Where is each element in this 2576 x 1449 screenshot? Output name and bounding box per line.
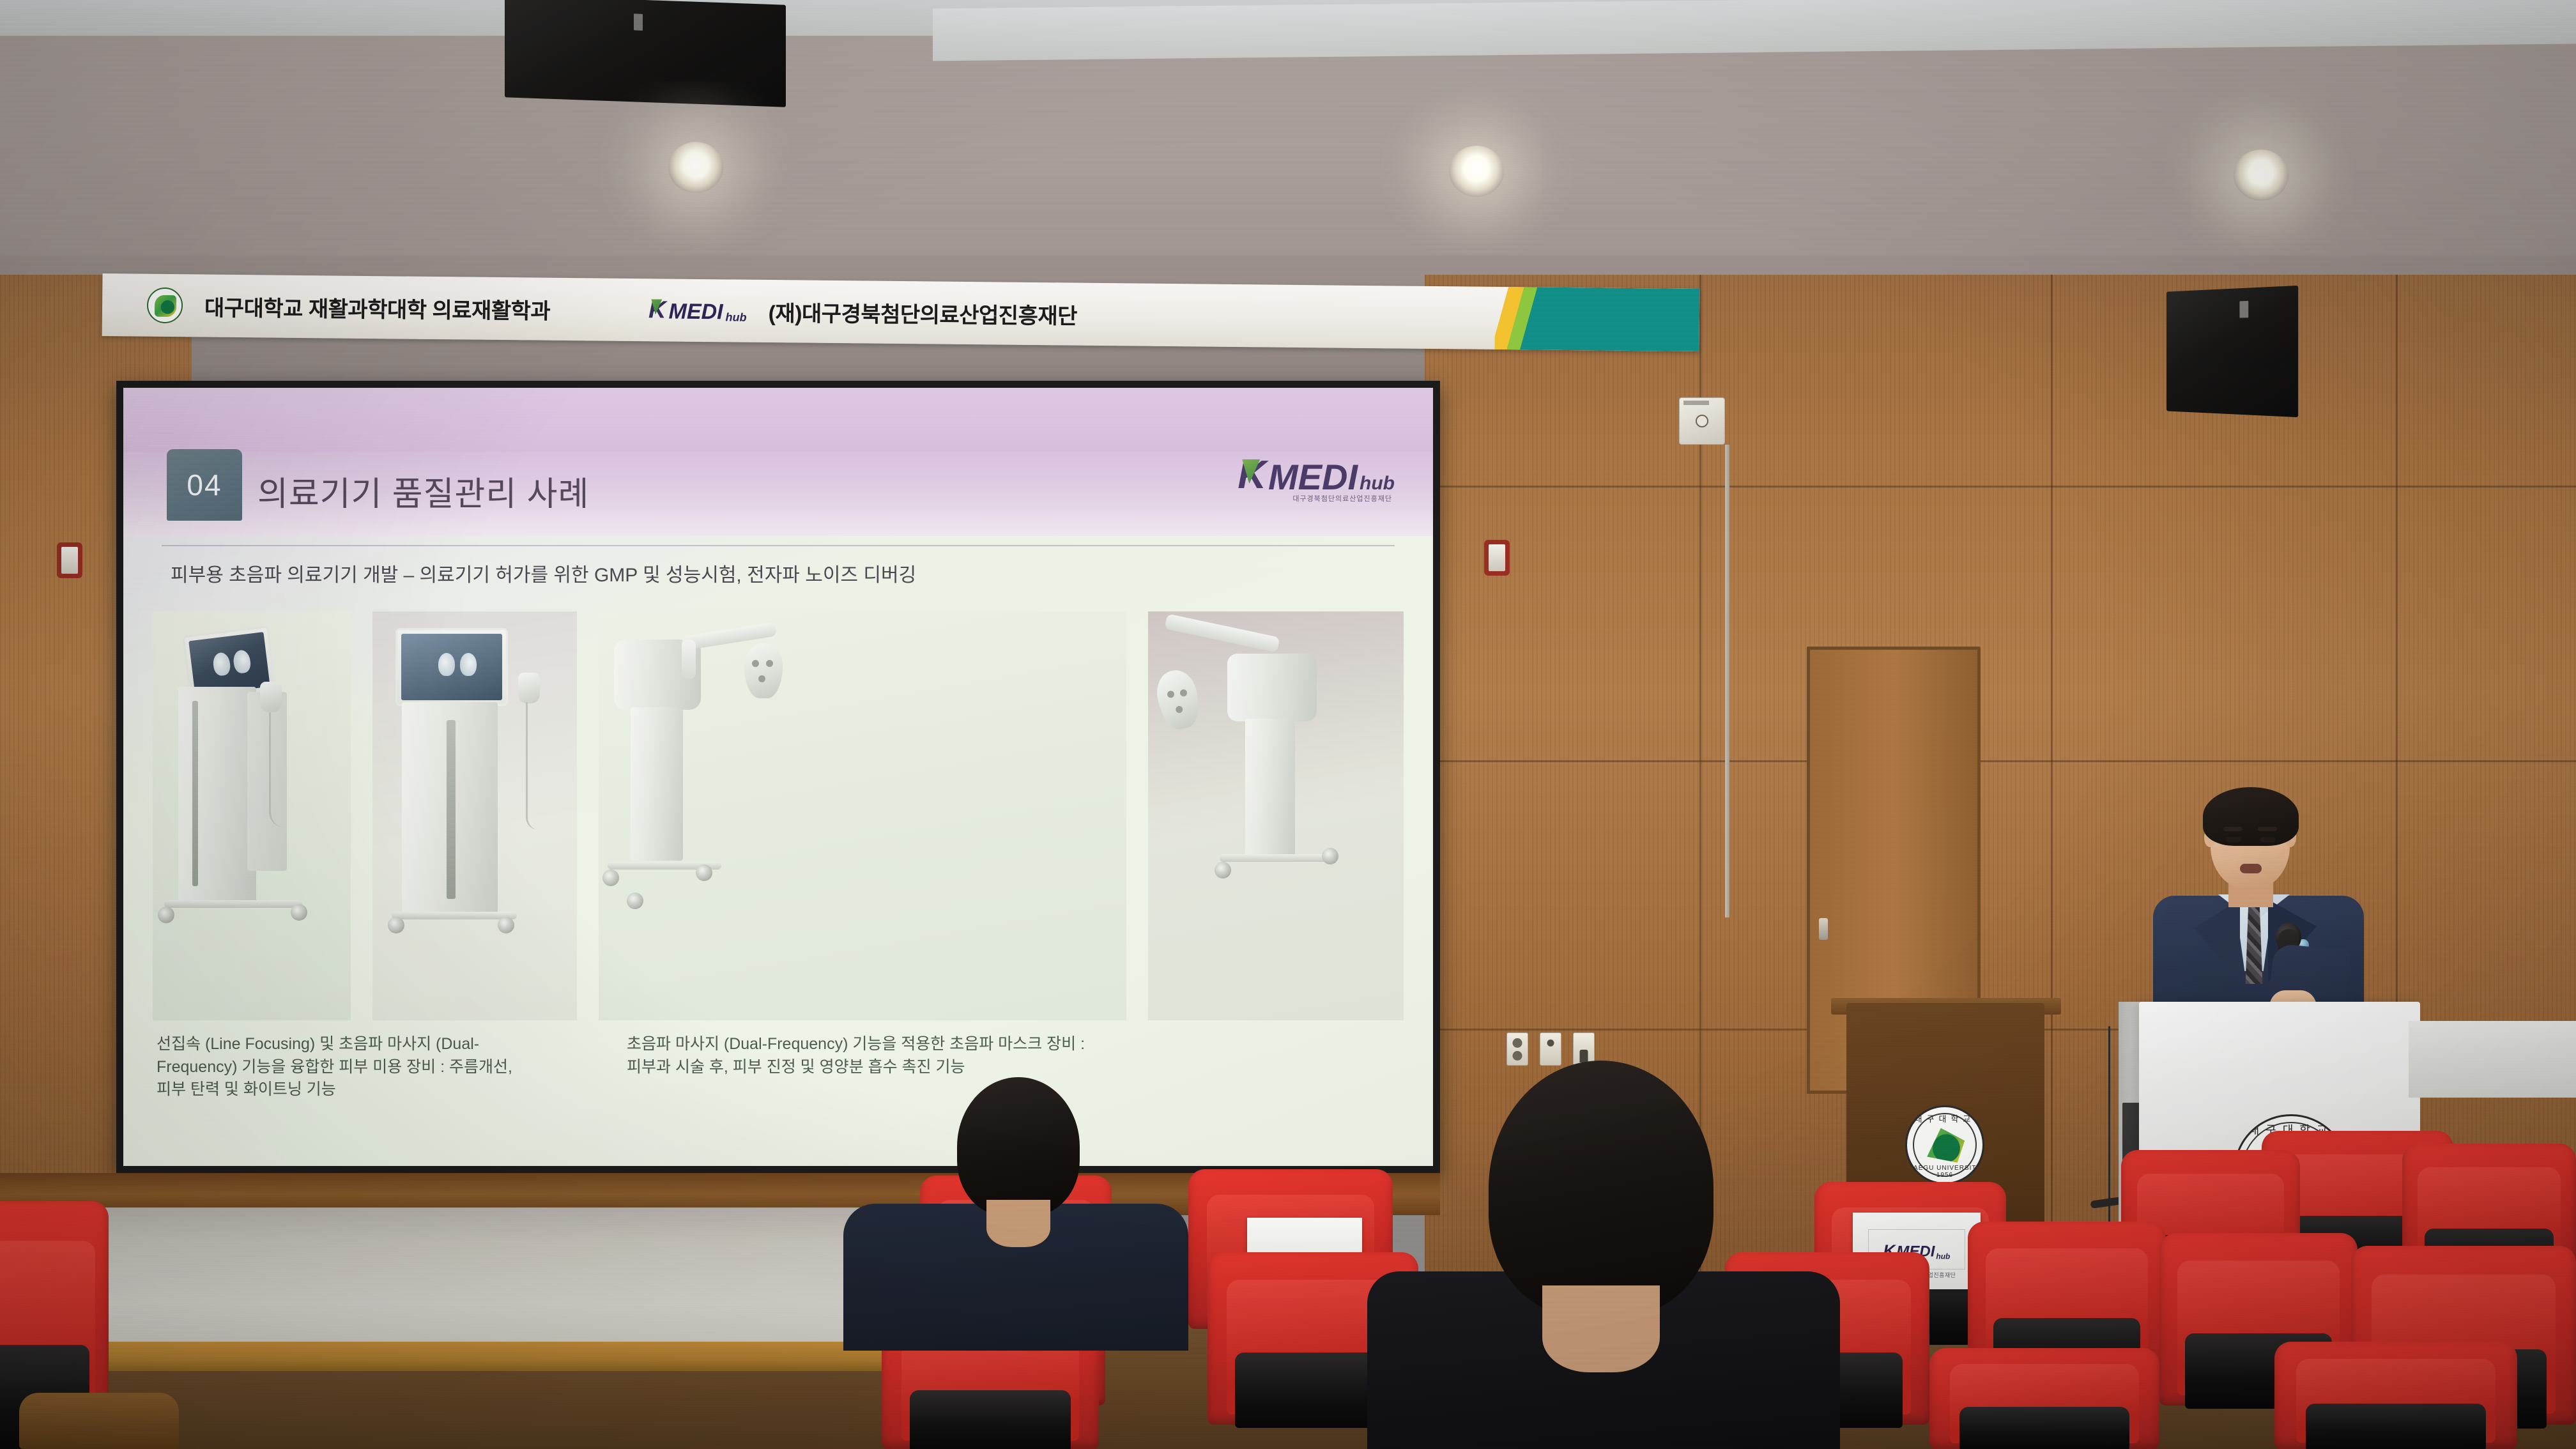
slide-logo-subtext: 대구경북첨단의료산업진흥재단: [1292, 493, 1392, 503]
wall-jack-plate-1: [1540, 1032, 1561, 1066]
banner-left-org: 대구대학교 재활과학대학 의료재활학과: [204, 290, 551, 325]
kmedi-k-letter: K: [648, 298, 666, 322]
control-knob-icon[interactable]: [1696, 415, 1708, 427]
projection-screen-surface: 04 의료기기 품질관리 사례 K MEDI hub 대구경북첨단의료산업진흥재…: [123, 388, 1433, 1166]
slide-subtitle: 피부용 초음파 의료기기 개발 – 의료기기 허가를 위한 GMP 및 성능시험…: [171, 559, 916, 587]
slide-photo-3-ultrasound-mask-cart: [599, 611, 1126, 1020]
attendee-front-left-head: [957, 1077, 1080, 1216]
slide-caption-left: 선집속 (Line Focusing) 및 초음파 마사지 (Dual- Fre…: [157, 1033, 565, 1101]
speaker-badge-icon: [634, 14, 643, 31]
device1-caster-left: [158, 907, 174, 923]
kmedi-hub-logo-banner: K MEDI hub: [648, 298, 747, 323]
door-handle-icon[interactable]: [1819, 918, 1828, 940]
banner-right-org: (재)대구경북첨단의료산업진흥재단: [768, 296, 1077, 330]
device3-caster-1: [602, 870, 619, 886]
slide-photo-2-dual-frequency-console: [372, 611, 577, 1020]
kmedi-hub-letters: hub: [725, 311, 746, 323]
projection-screen: 04 의료기기 품질관리 사례 K MEDI hub 대구경북첨단의료산업진흥재…: [116, 381, 1440, 1173]
device2-handpiece: [518, 673, 540, 703]
ceiling-speaker-right: [2166, 286, 2298, 417]
wall-power-outlet: [1506, 1032, 1528, 1066]
downlight-2: [1449, 146, 1504, 197]
seat-front-8[interactable]: [2274, 1342, 2517, 1449]
device2-monitor: [395, 628, 508, 706]
seal-latin-text: DAEGU UNIVERSITY 1956: [1907, 1165, 1982, 1179]
slide-photo-row: [153, 611, 1404, 1020]
slide-logo-medi: MEDI: [1268, 461, 1358, 494]
seal-korean-text: 대구대학교: [1907, 1112, 1982, 1124]
presenter-hair: [2203, 787, 2299, 846]
banner-flag-graphic: [1494, 287, 1699, 351]
slide-photo-1-line-focusing-console: [153, 611, 351, 1020]
device3-caster-3: [627, 893, 643, 909]
handout-logo-hub: hub: [1936, 1252, 1950, 1261]
kmedi-medi-letters: MEDI: [668, 301, 723, 323]
device2-screen: [401, 634, 502, 700]
seat-far-left-armrest: [19, 1393, 179, 1449]
device2-slot: [447, 720, 456, 899]
device3-mask: [744, 643, 783, 698]
slide-divider: [162, 545, 1395, 546]
device3-column: [631, 707, 683, 861]
downlight-3: [2234, 149, 2288, 201]
device1-handpiece: [260, 682, 282, 712]
presentation-slide: 04 의료기기 품질관리 사례 K MEDI hub 대구경북첨단의료산업진흥재…: [123, 388, 1433, 1166]
projector-screen-control-box[interactable]: [1679, 397, 1725, 445]
side-table: [2409, 1021, 2576, 1098]
slide-title: 의료기기 품질관리 사례: [257, 467, 589, 515]
auditorium-presentation-photo: 대구대학교 재활과학대학 의료재활학과 K MEDI hub (재)대구경북첨단…: [0, 0, 2576, 1449]
device4-mask: [1153, 667, 1204, 733]
device3-caster-2: [696, 864, 712, 881]
presenter-eye-left: [2226, 837, 2241, 842]
device4-caster-2: [1322, 848, 1338, 864]
slide-logo-hub: hub: [1360, 474, 1395, 493]
device4-column: [1245, 719, 1295, 857]
attendee-front-center-head: [1489, 1061, 1713, 1316]
daegu-university-emblem-icon: [147, 287, 183, 324]
device4-head-unit: [1227, 654, 1317, 721]
device1-base: [164, 900, 302, 908]
ceiling-speaker-left: [505, 0, 786, 107]
wall-conduit: [1725, 445, 1729, 917]
device2-caster-right: [498, 917, 514, 933]
control-box-label: [1683, 401, 1709, 405]
device1-body: [178, 687, 256, 904]
slide-section-badge: 04: [167, 449, 242, 521]
device4-arm: [1164, 614, 1280, 653]
device4-base-bar: [1220, 854, 1335, 862]
device1-screen: [188, 632, 270, 696]
lectern-daegu-university-seal: 대구대학교 DAEGU UNIVERSITY 1956: [1905, 1105, 1984, 1184]
attendee-front-left-neck: [986, 1200, 1050, 1247]
presenter-eye-right: [2260, 837, 2276, 842]
slide-header-gradient: [123, 388, 1433, 452]
presenter-mouth: [2240, 864, 2262, 873]
fire-alarm-light-right: [1489, 544, 1505, 571]
device1-cable: [269, 712, 284, 827]
stage-lip: [0, 1342, 971, 1371]
attendee-front-center-neck: [1542, 1285, 1659, 1372]
device1-slot: [192, 701, 198, 886]
device1-caster-right: [291, 904, 307, 921]
downlight-1: [668, 142, 723, 193]
device2-cable: [526, 702, 539, 830]
device2-base: [392, 912, 517, 919]
device2-caster-left: [388, 917, 404, 933]
fire-alarm-light-left: [61, 547, 78, 574]
slide-photo-4-ultrasound-mask-in-room: [1148, 611, 1404, 1020]
slide-logo-k: K: [1238, 457, 1266, 493]
slide-kmedi-hub-logo: K MEDI hub 대구경북첨단의료산업진흥재단: [1238, 457, 1395, 493]
presenter-eyebrow-right: [2258, 827, 2277, 831]
slide-caption-row: 선집속 (Line Focusing) 및 초음파 마사지 (Dual- Fre…: [157, 1033, 1400, 1101]
seat-front-9[interactable]: [1929, 1348, 2159, 1449]
device3-arm-joint: [682, 640, 696, 679]
presenter-eyebrow-left: [2223, 827, 2242, 831]
speaker-badge-right-icon: [2240, 300, 2249, 318]
device4-caster-1: [1215, 862, 1231, 878]
